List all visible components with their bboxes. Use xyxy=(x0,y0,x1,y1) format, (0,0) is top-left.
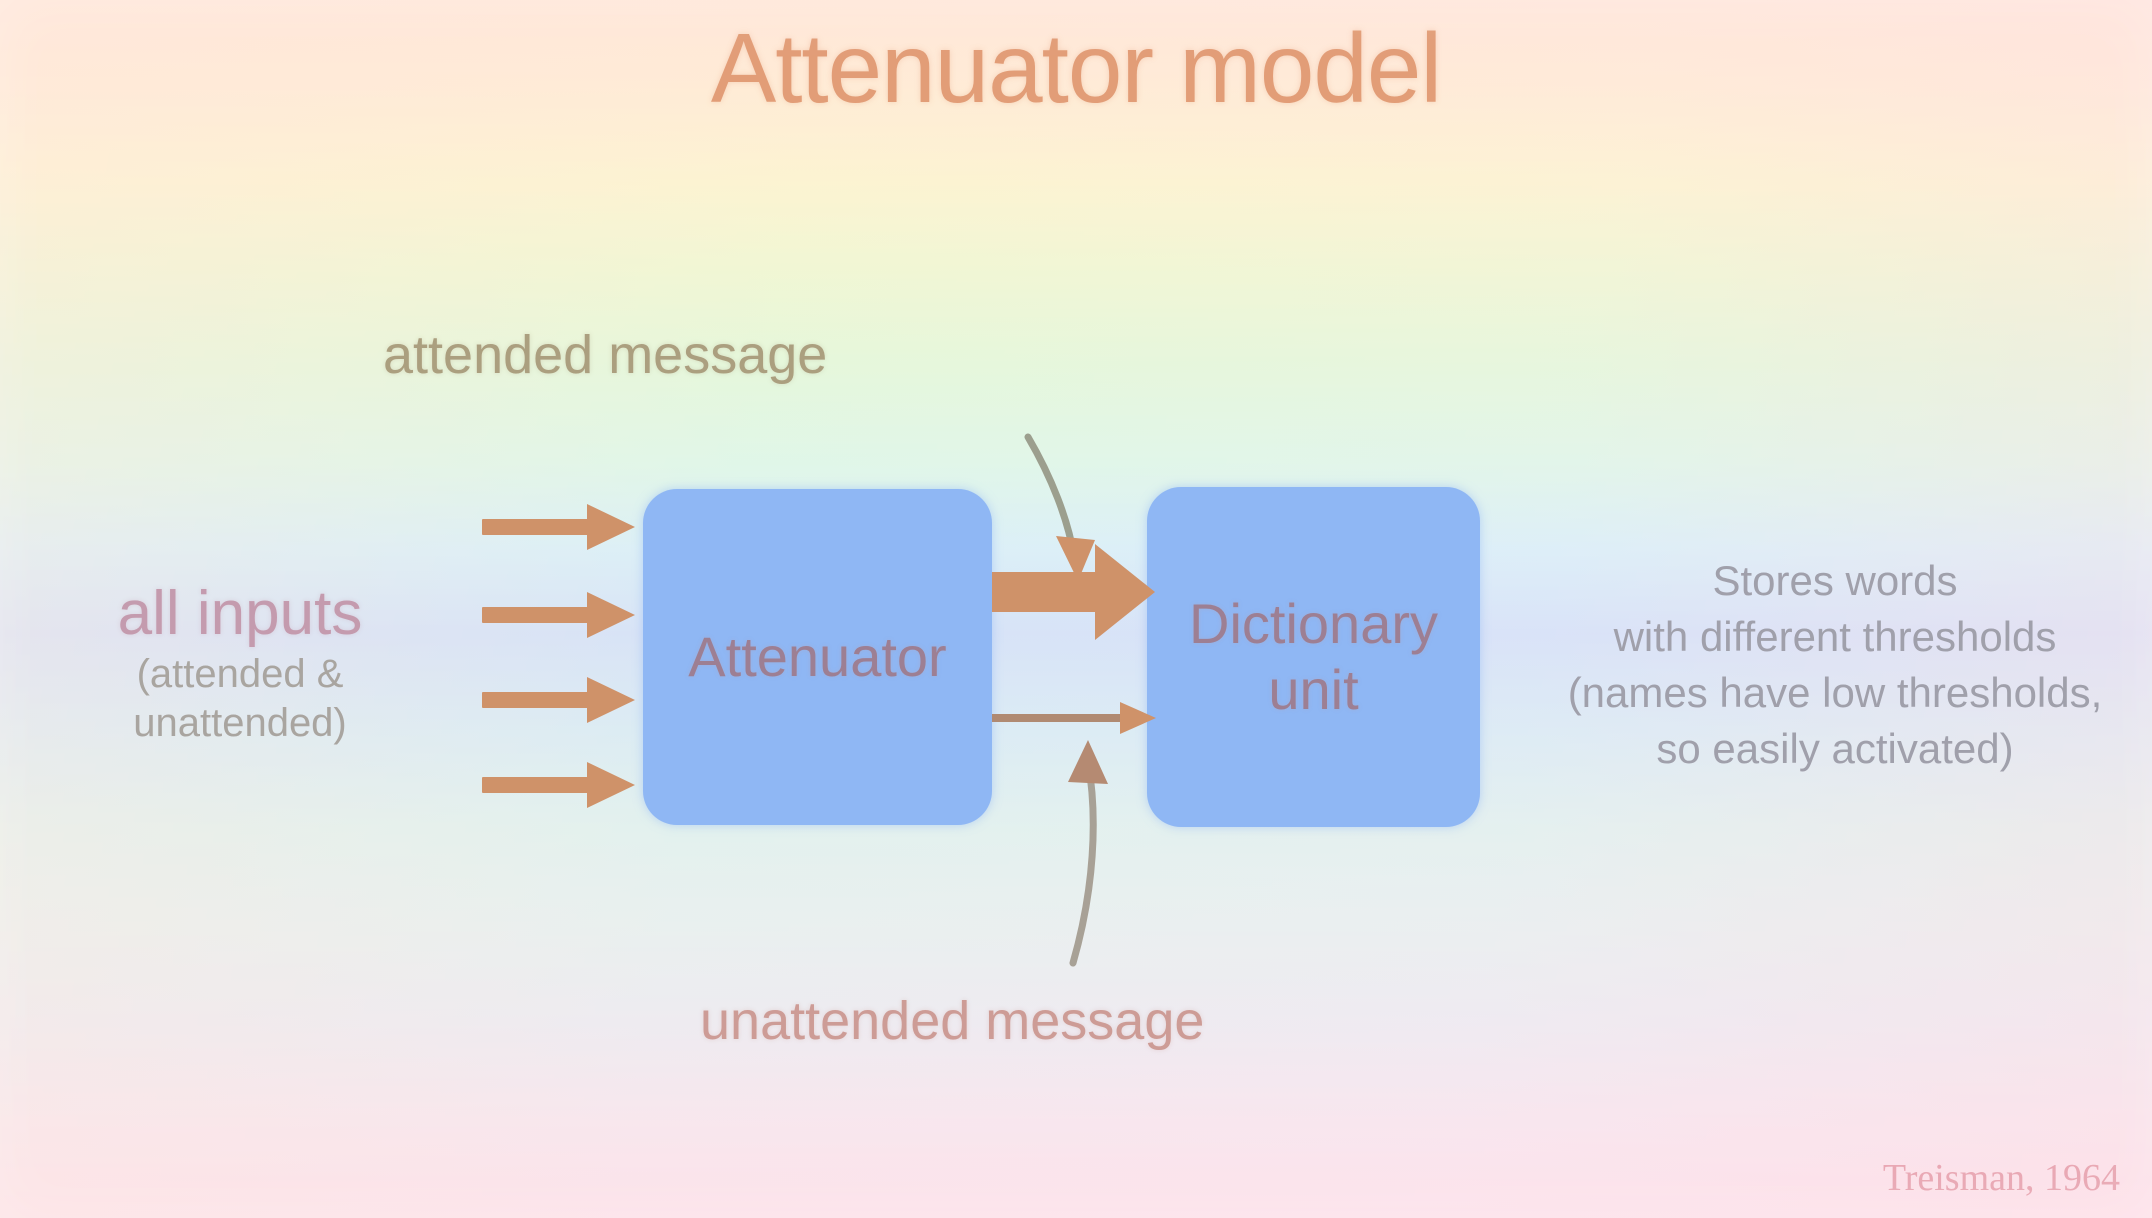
arrow-head xyxy=(587,504,635,550)
note-line-1: Stores words xyxy=(1712,557,1957,604)
attended-message-curve xyxy=(1028,437,1095,581)
input-arrow-4 xyxy=(482,762,635,808)
all-inputs-sub-line2: unattended) xyxy=(133,701,347,745)
citation: Treisman, 1964 xyxy=(1883,1156,2120,1200)
slide-canvas: Attenuator model all inputs (attended & … xyxy=(0,0,2152,1218)
arrow-shaft xyxy=(482,519,590,535)
dictionary-description-note: Stores words with different thresholds (… xyxy=(1530,553,2140,776)
thin-connector-arrow xyxy=(992,702,1156,734)
note-line-4: so easily activated) xyxy=(1656,725,2013,772)
arrow-head xyxy=(587,677,635,723)
input-arrow-1 xyxy=(482,504,635,550)
unattended-message-curve xyxy=(1068,740,1108,963)
arrow-shaft xyxy=(482,692,590,708)
arrow-shaft xyxy=(482,777,590,793)
input-arrow-2 xyxy=(482,592,635,638)
dictionary-label-line2: unit xyxy=(1268,658,1358,721)
arrow-shaft xyxy=(482,607,590,623)
arrow-head xyxy=(587,592,635,638)
dictionary-label-line1: Dictionary xyxy=(1189,592,1438,655)
all-inputs-label: all inputs xyxy=(0,578,480,649)
arrow-head xyxy=(587,762,635,808)
note-line-2: with different thresholds xyxy=(1614,613,2057,660)
attenuator-box-label: Attenuator xyxy=(688,624,946,690)
all-inputs-sub-line1: (attended & xyxy=(137,652,344,696)
input-arrow-3 xyxy=(482,677,635,723)
attenuator-box[interactable]: Attenuator xyxy=(643,489,992,825)
note-line-3: (names have low thresholds, xyxy=(1568,669,2103,716)
unattended-message-label: unattended message xyxy=(700,990,1204,1052)
all-inputs-sublabel: (attended & unattended) xyxy=(0,650,480,748)
attended-message-label: attended message xyxy=(383,324,827,386)
dictionary-unit-box[interactable]: Dictionaryunit xyxy=(1147,487,1480,827)
page-title: Attenuator model xyxy=(0,12,2152,125)
thick-connector-arrow xyxy=(992,544,1155,640)
dictionary-unit-box-label: Dictionaryunit xyxy=(1189,591,1438,723)
